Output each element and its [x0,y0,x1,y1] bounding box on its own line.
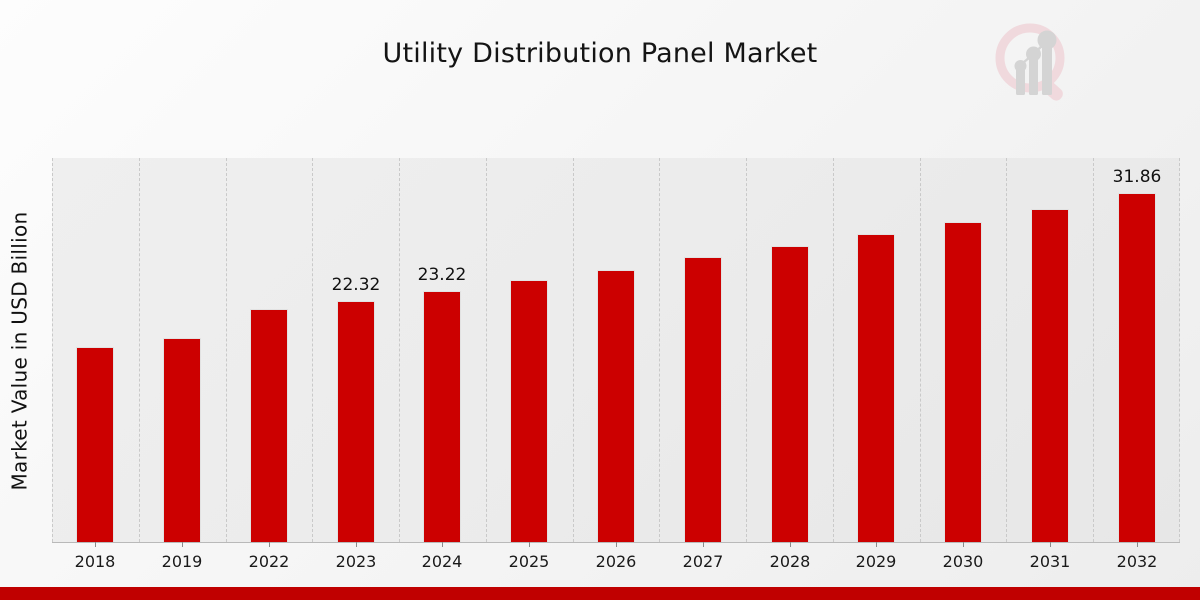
gridline [486,158,488,542]
x-tick-label-2031: 2031 [1010,552,1090,571]
x-tick-label-2032: 2032 [1097,552,1177,571]
x-tick-label-2025: 2025 [489,552,569,571]
bar-2031 [1031,209,1069,542]
x-tick-label-2024: 2024 [402,552,482,571]
footer-band [0,587,1200,600]
x-tick-label-2030: 2030 [923,552,1003,571]
market-research-magnifier-logo [984,16,1080,108]
gridline [1093,158,1095,542]
chart-figure: Utility Distribution Panel Market [0,0,1200,600]
x-tick [790,542,791,547]
bar-2030 [944,222,982,542]
bar-2028 [771,246,809,542]
gridline [312,158,314,542]
plot-area: 22.3223.2231.86 [52,158,1180,542]
bar-value-label-2024: 23.22 [402,265,482,285]
bar-2025 [510,280,548,542]
gridline [139,158,141,542]
x-tick-label-2026: 2026 [576,552,656,571]
bar-value-label-2023: 22.32 [316,275,396,295]
gridline [226,158,228,542]
bar-2032 [1118,193,1156,542]
x-tick [442,542,443,547]
bar-2018 [76,347,114,542]
bar-2029 [857,234,895,542]
x-tick [95,542,96,547]
bar-2026 [597,270,635,542]
x-tick-label-2029: 2029 [836,552,916,571]
x-tick-label-2018: 2018 [55,552,135,571]
y-axis-label: Market Value in USD Billion [8,211,32,490]
gridline [833,158,835,542]
x-tick [269,542,270,547]
x-axis: 2018201920222023202420252026202720282029… [52,542,1180,543]
x-tick-label-2028: 2028 [750,552,830,571]
y-axis-label-container: Market Value in USD Billion [0,158,40,544]
bar-2027 [684,257,722,542]
x-tick-label-2027: 2027 [663,552,743,571]
gridline [746,158,748,542]
x-tick-label-2023: 2023 [316,552,396,571]
x-tick [963,542,964,547]
x-tick [1137,542,1138,547]
x-tick-label-2019: 2019 [142,552,222,571]
bar-2023 [337,301,375,542]
x-tick [616,542,617,547]
gridline [659,158,661,542]
x-tick-label-2022: 2022 [229,552,309,571]
x-tick [1050,542,1051,547]
x-tick [876,542,877,547]
gridline [920,158,922,542]
gridline [1179,158,1181,542]
bar-2019 [163,338,201,542]
x-tick [703,542,704,547]
bar-value-label-2032: 31.86 [1097,167,1177,187]
gridline [573,158,575,542]
x-tick [529,542,530,547]
bar-2024 [423,291,461,542]
x-tick [356,542,357,547]
gridline [399,158,401,542]
bar-2022 [250,309,288,542]
gridline [52,158,54,542]
gridline [1006,158,1008,542]
x-tick [182,542,183,547]
